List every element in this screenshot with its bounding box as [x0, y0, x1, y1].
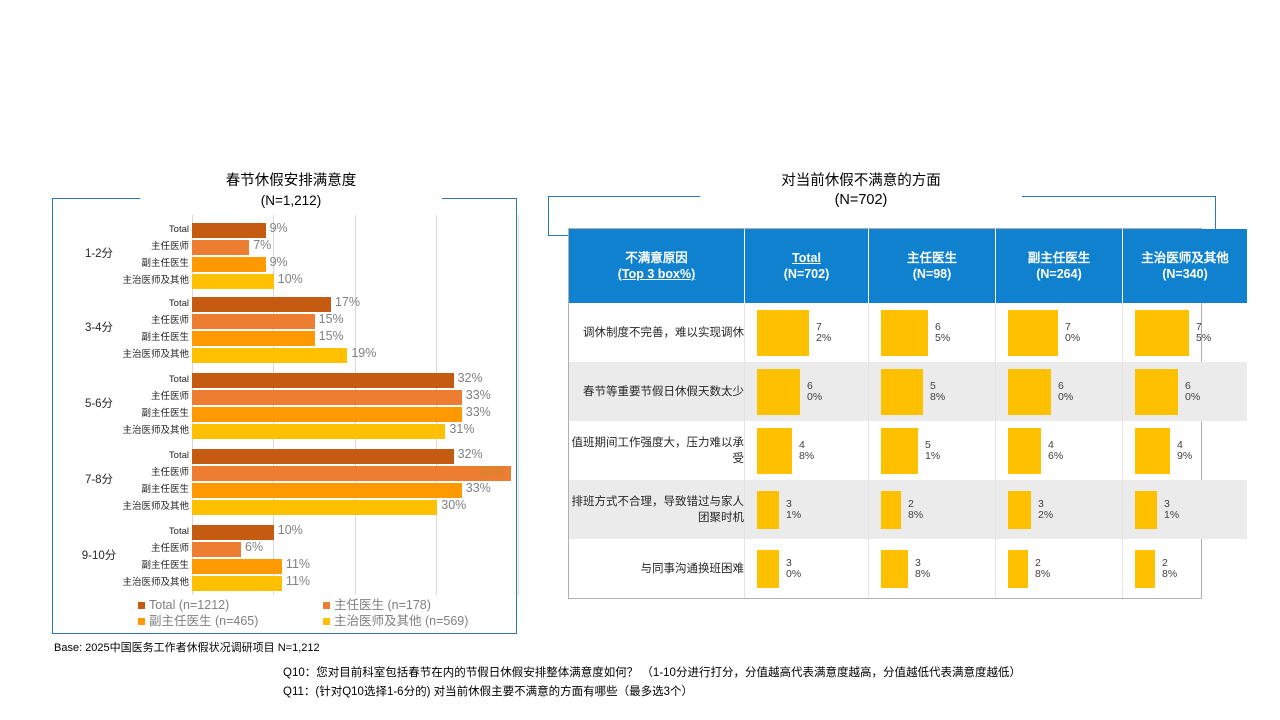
bar-value-label: 33%: [466, 388, 491, 402]
table-row: 值班期间工作强度大，压力难以承受48%51%46%49%: [569, 421, 1247, 480]
row-label: 与同事沟通换班困难: [569, 539, 745, 598]
column-header-line2: (N=98): [873, 266, 991, 282]
series-label: Total: [79, 221, 189, 238]
bar-group: 10%6%11%11%: [192, 525, 519, 593]
bar-value-label: 15%: [319, 312, 344, 326]
table-cell: 51%: [869, 421, 996, 480]
column-header-line1: 不满意原因: [573, 250, 740, 266]
column-header-line2: (N=702): [749, 266, 864, 282]
cell-value-label: 60%: [807, 381, 827, 403]
bar-value-label: 32%: [458, 371, 483, 385]
legend-swatch: [323, 618, 330, 625]
category-label: 3-4分: [63, 319, 135, 335]
bar: [192, 223, 266, 238]
column-header-line1: 主治医师及其他: [1127, 250, 1243, 266]
cell-value-label: 46%: [1048, 440, 1068, 462]
bar-group: 32%33%33%31%: [192, 373, 519, 441]
table-cell: 28%: [869, 480, 996, 539]
bar: [192, 559, 282, 574]
bar-value-label: 10%: [278, 523, 303, 537]
cell-value-label: 60%: [1058, 381, 1078, 403]
bar: [192, 390, 462, 405]
bar: [192, 314, 315, 329]
column-header-line1: 主任医生: [873, 250, 991, 266]
cell-value-label: 31%: [1164, 499, 1184, 521]
cell-bar: [1135, 369, 1178, 415]
series-label: 主治医师及其他: [79, 498, 189, 515]
cell-value-label: 28%: [1035, 558, 1055, 580]
series-label: 主治医师及其他: [79, 422, 189, 439]
bar-row: 7%: [192, 240, 519, 255]
cell-bar: [757, 550, 779, 588]
cell-bar-wrap: 46%: [996, 421, 1122, 480]
cell-value-label: 28%: [908, 499, 928, 521]
table-cell: 30%: [745, 539, 869, 598]
cell-bar-wrap: 75%: [1123, 303, 1247, 362]
right-chart-title-main: 对当前休假不满意的方面: [706, 172, 1016, 191]
series-label: Total: [79, 447, 189, 464]
table-cell: 28%: [996, 539, 1123, 598]
cell-value-label: 30%: [786, 558, 806, 580]
legend-item: 副主任医生 (n=465): [138, 613, 323, 629]
bar-row: 15%: [192, 331, 519, 346]
table-cell: 49%: [1123, 421, 1248, 480]
left-chart-title-main: 春节休假安排满意度: [146, 172, 436, 191]
table-cell: 32%: [996, 480, 1123, 539]
cell-bar-wrap: 28%: [996, 539, 1122, 598]
satisfaction-bar-plot: 9%7%9%10%17%15%15%19%32%33%33%31%32%39%3…: [192, 215, 519, 595]
table-row: 调休制度不完善，难以实现调休72%65%70%75%: [569, 303, 1247, 362]
category-label: 5-6分: [63, 395, 135, 411]
dissatisfaction-table: 不满意原因(Top 3 box%)Total(N=702)主任医生(N=98)副…: [569, 229, 1247, 598]
cell-bar-wrap: 60%: [996, 362, 1122, 421]
cell-bar-wrap: 30%: [745, 539, 868, 598]
cell-bar-wrap: 28%: [869, 480, 995, 539]
table-cell: 70%: [996, 303, 1123, 362]
bar-row: 32%: [192, 449, 519, 464]
bar-group: 9%7%9%10%: [192, 223, 519, 291]
cell-bar-wrap: 51%: [869, 421, 995, 480]
column-header-line1: 副主任医生: [1000, 250, 1118, 266]
category-label: 1-2分: [63, 245, 135, 261]
cell-value-label: 28%: [1162, 558, 1182, 580]
cell-bar-wrap: 31%: [745, 480, 868, 539]
bar-row: 15%: [192, 314, 519, 329]
series-label: Total: [79, 523, 189, 540]
row-label: 调休制度不完善，难以实现调休: [569, 303, 745, 362]
bar-row: 33%: [192, 407, 519, 422]
table-cell: 31%: [745, 480, 869, 539]
cell-bar-wrap: 48%: [745, 421, 868, 480]
cell-bar: [1008, 369, 1051, 415]
bar-row: 30%: [192, 500, 519, 515]
bar-row: 31%: [192, 424, 519, 439]
bar-row: 19%: [192, 348, 519, 363]
bar-value-label: 9%: [270, 221, 288, 235]
legend-swatch: [323, 602, 330, 609]
table-column-header: Total(N=702): [745, 229, 869, 303]
bar-row: 33%: [192, 483, 519, 498]
bar: [192, 257, 266, 272]
cell-bar-wrap: 32%: [996, 480, 1122, 539]
footnotes: Q10：您对目前科室包括春节在内的节假日休假安排整体满意度如何？ （1-10分进…: [283, 664, 1021, 702]
cell-bar: [881, 491, 901, 529]
cell-value-label: 65%: [935, 322, 955, 344]
cell-bar: [881, 369, 923, 415]
table-row: 排班方式不合理，导致错过与家人团聚时机31%28%32%31%: [569, 480, 1247, 539]
legend-label: 副主任医生 (n=465): [149, 613, 258, 629]
series-label: 主治医师及其他: [79, 574, 189, 591]
cell-bar-wrap: 31%: [1123, 480, 1247, 539]
cell-value-label: 58%: [930, 381, 950, 403]
table-cell: 48%: [745, 421, 869, 480]
cell-bar-wrap: 65%: [869, 303, 995, 362]
bar: [192, 525, 274, 540]
bar: [192, 576, 282, 591]
cell-value-label: 31%: [786, 499, 806, 521]
row-label: 春节等重要节假日休假天数太少: [569, 362, 745, 421]
bar-value-label: 33%: [466, 481, 491, 495]
cell-bar-wrap: 58%: [869, 362, 995, 421]
right-chart-title-sub: (N=702): [706, 191, 1016, 210]
bar-value-label: 31%: [449, 422, 474, 436]
table-cell: 75%: [1123, 303, 1248, 362]
table-column-header: 不满意原因(Top 3 box%): [569, 229, 745, 303]
bar-row: 17%: [192, 297, 519, 312]
right-chart-title: 对当前休假不满意的方面 (N=702): [700, 172, 1022, 210]
legend-item: 主任医生 (n=178): [323, 597, 508, 613]
column-header-line1: Total: [749, 250, 864, 266]
bar-value-label: 33%: [466, 405, 491, 419]
cell-bar: [1135, 550, 1155, 588]
table-column-header: 主任医生(N=98): [869, 229, 996, 303]
bar-row: 9%: [192, 257, 519, 272]
bar: [192, 424, 445, 439]
cell-value-label: 60%: [1185, 381, 1205, 403]
cell-bar: [1008, 310, 1058, 356]
bar-row: 10%: [192, 525, 519, 540]
bar-row: 11%: [192, 559, 519, 574]
bar-group: 17%15%15%19%: [192, 297, 519, 365]
category-label: 7-8分: [63, 471, 135, 487]
table-cell: 60%: [1123, 362, 1248, 421]
left-chart-title: 春节休假安排满意度 (N=1,212): [140, 172, 442, 210]
bar-row: 32%: [192, 373, 519, 388]
bar-row: 11%: [192, 576, 519, 591]
column-header-line2: (N=340): [1127, 266, 1243, 282]
cell-bar: [757, 428, 792, 474]
series-label: Total: [79, 295, 189, 312]
legend-label: Total (n=1212): [149, 597, 229, 613]
column-header-line2: (Top 3 box%): [573, 266, 740, 282]
cell-bar: [1008, 550, 1028, 588]
series-label: Total: [79, 371, 189, 388]
dissatisfaction-table-wrap: 不满意原因(Top 3 box%)Total(N=702)主任医生(N=98)副…: [568, 228, 1202, 599]
bar-row: 6%: [192, 542, 519, 557]
table-head: 不满意原因(Top 3 box%)Total(N=702)主任医生(N=98)副…: [569, 229, 1247, 303]
cell-bar: [881, 428, 918, 474]
cell-bar: [881, 310, 928, 356]
bar-value-label: 11%: [286, 557, 310, 571]
legend-label: 主治医师及其他 (n=569): [334, 613, 468, 629]
category-label: 9-10分: [63, 547, 135, 563]
bar-value-label: 30%: [441, 498, 466, 512]
left-chart-title-sub: (N=1,212): [146, 191, 436, 210]
cell-value-label: 48%: [799, 440, 819, 462]
bar: [192, 500, 437, 515]
cell-value-label: 49%: [1177, 440, 1197, 462]
chart-legend: Total (n=1212)主任医生 (n=178)副主任医生 (n=465)主…: [138, 597, 508, 629]
cell-value-label: 32%: [1038, 499, 1058, 521]
table-cell: 65%: [869, 303, 996, 362]
cell-value-label: 51%: [925, 440, 945, 462]
bar: [192, 542, 241, 557]
cell-value-label: 70%: [1065, 322, 1085, 344]
cell-bar: [1135, 428, 1170, 474]
bar: [192, 297, 331, 312]
table-cell: 60%: [996, 362, 1123, 421]
bar: [192, 373, 454, 388]
satisfaction-chart-panel: 9%7%9%10%17%15%15%19%32%33%33%31%32%39%3…: [52, 198, 517, 634]
bar-value-label: 11%: [286, 574, 310, 588]
cell-bar-wrap: 49%: [1123, 421, 1247, 480]
series-label: 主治医师及其他: [79, 346, 189, 363]
legend-swatch: [138, 602, 145, 609]
table-cell: 31%: [1123, 480, 1248, 539]
bar: [192, 449, 454, 464]
bar-row: 9%: [192, 223, 519, 238]
series-label: 主治医师及其他: [79, 272, 189, 289]
legend-swatch: [138, 618, 145, 625]
bar: [192, 348, 347, 363]
cell-bar-wrap: 60%: [1123, 362, 1247, 421]
legend-item: 主治医师及其他 (n=569): [323, 613, 508, 629]
table-cell: 60%: [745, 362, 869, 421]
bar-value-label: 9%: [270, 255, 288, 269]
row-label: 排班方式不合理，导致错过与家人团聚时机: [569, 480, 745, 539]
bar-value-label: 7%: [253, 238, 271, 252]
table-body: 调休制度不完善，难以实现调休72%65%70%75%春节等重要节假日休假天数太少…: [569, 303, 1247, 598]
bar: [192, 274, 274, 289]
table-header-row: 不满意原因(Top 3 box%)Total(N=702)主任医生(N=98)副…: [569, 229, 1247, 303]
row-label: 值班期间工作强度大，压力难以承受: [569, 421, 745, 480]
cell-bar-wrap: 72%: [745, 303, 868, 362]
cell-value-label: 38%: [915, 558, 935, 580]
bar-value-label: 19%: [351, 346, 376, 360]
bar: [192, 483, 462, 498]
cell-bar: [757, 491, 779, 529]
bar-value-label: 15%: [319, 329, 344, 343]
footnote-q11: Q11：(针对Q10选择1-6分的) 对当前休假主要不满意的方面有哪些（最多选3…: [283, 683, 1021, 702]
table-column-header: 主治医师及其他(N=340): [1123, 229, 1248, 303]
cell-bar-wrap: 70%: [996, 303, 1122, 362]
table-cell: 38%: [869, 539, 996, 598]
bar: [192, 407, 462, 422]
table-column-header: 副主任医生(N=264): [996, 229, 1123, 303]
footnote-q10: Q10：您对目前科室包括春节在内的节假日休假安排整体满意度如何？ （1-10分进…: [283, 664, 1021, 683]
legend-label: 主任医生 (n=178): [334, 597, 431, 613]
bar-value-label: 6%: [245, 540, 263, 554]
legend-item: Total (n=1212): [138, 597, 323, 613]
table-cell: 72%: [745, 303, 869, 362]
table-row: 与同事沟通换班困难30%38%28%28%: [569, 539, 1247, 598]
table-cell: 58%: [869, 362, 996, 421]
bar-row: 39%: [192, 466, 519, 481]
table-row: 春节等重要节假日休假天数太少60%58%60%60%: [569, 362, 1247, 421]
bar-row: 10%: [192, 274, 519, 289]
cell-bar-wrap: 38%: [869, 539, 995, 598]
base-note: Base: 2025中国医务工作者休假状况调研项目 N=1,212: [54, 639, 320, 655]
bar-value-label: 32%: [458, 447, 483, 461]
bar: [192, 466, 511, 481]
cell-bar: [757, 310, 809, 356]
bar-row: 33%: [192, 390, 519, 405]
bar: [192, 240, 249, 255]
cell-value-label: 75%: [1196, 322, 1216, 344]
bar-value-label: 17%: [335, 295, 360, 309]
cell-bar: [1008, 428, 1041, 474]
cell-bar: [1135, 310, 1189, 356]
table-cell: 46%: [996, 421, 1123, 480]
bar-value-label: 39%: [479, 464, 504, 478]
bar-group: 32%39%33%30%: [192, 449, 519, 517]
bar: [192, 331, 315, 346]
cell-bar: [1135, 491, 1157, 529]
cell-bar: [757, 369, 800, 415]
column-header-line2: (N=264): [1000, 266, 1118, 282]
cell-bar: [881, 550, 908, 588]
cell-bar: [1008, 491, 1031, 529]
cell-bar-wrap: 60%: [745, 362, 868, 421]
bar-value-label: 10%: [278, 272, 303, 286]
table-cell: 28%: [1123, 539, 1248, 598]
cell-value-label: 72%: [816, 322, 836, 344]
cell-bar-wrap: 28%: [1123, 539, 1247, 598]
